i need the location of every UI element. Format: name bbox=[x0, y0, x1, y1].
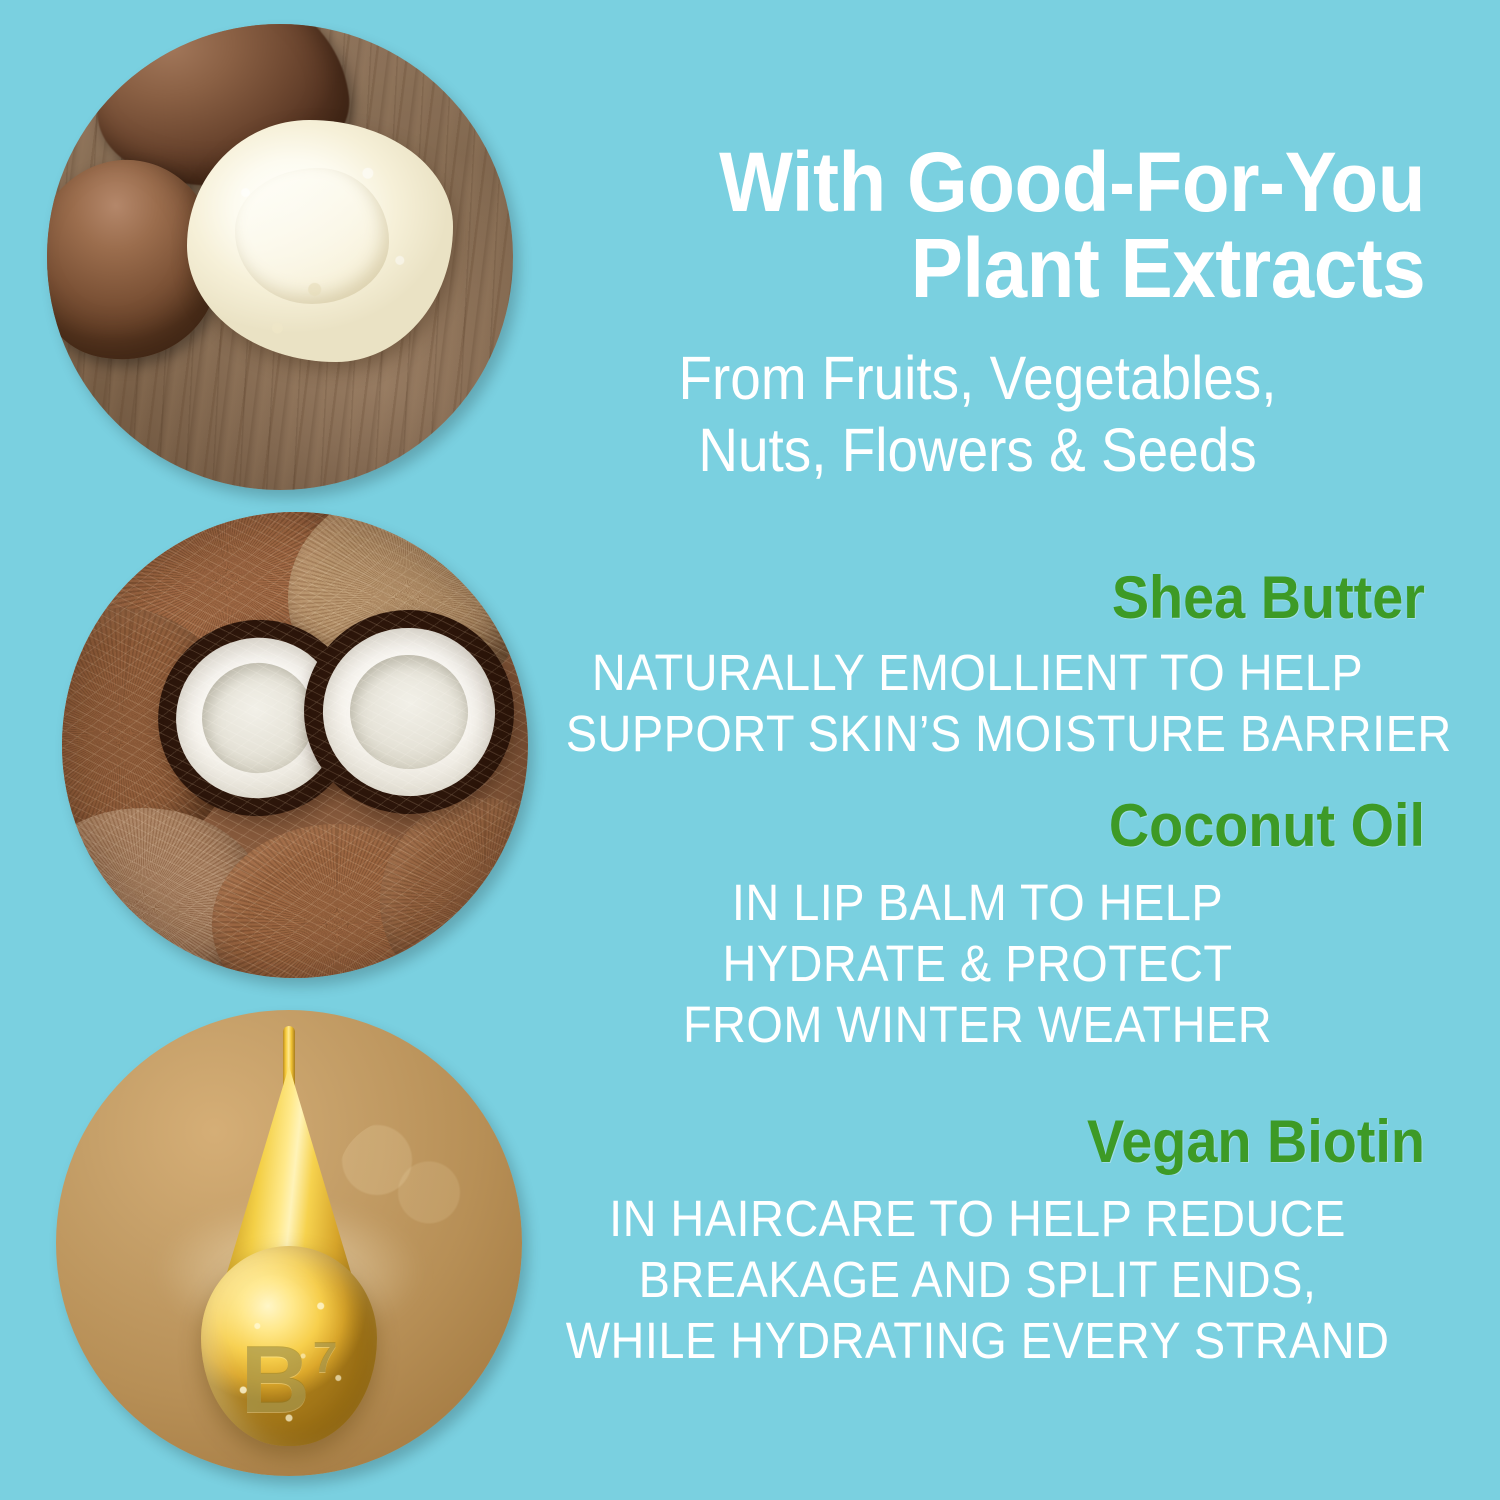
section-body-line: IN HAIRCARE TO HELP REDUCE bbox=[566, 1188, 1389, 1249]
subheadline-line-1: From Fruits, Vegetables, bbox=[575, 348, 1381, 409]
section-body-line: WHILE HYDRATING EVERY STRAND bbox=[566, 1310, 1389, 1371]
section-body-line: SUPPORT SKIN’S MOISTURE BARRIER bbox=[566, 703, 1389, 764]
section-title-vegan-biotin: Vegan Biotin bbox=[593, 1112, 1425, 1172]
coconut-image bbox=[62, 512, 528, 978]
oil-droplet-icon: B 7 bbox=[201, 1026, 377, 1446]
section-shea-butter: Shea Butter NATURALLY EMOLLIENT TO HELP … bbox=[530, 568, 1425, 764]
section-title-coconut-oil: Coconut Oil bbox=[593, 796, 1425, 856]
section-body-line: BREAKAGE AND SPLIT ENDS, bbox=[566, 1249, 1389, 1310]
section-title-shea-butter: Shea Butter bbox=[593, 568, 1425, 628]
headline-line-1: With Good-For-You bbox=[719, 142, 1425, 223]
shea-butter-scoop bbox=[187, 120, 453, 362]
headline-line-2: Plant Extracts bbox=[910, 228, 1425, 309]
image-vignette bbox=[62, 512, 528, 978]
section-body-line: FROM WINTER WEATHER bbox=[566, 994, 1389, 1055]
section-body-line: HYDRATE & PROTECT bbox=[566, 933, 1389, 994]
section-vegan-biotin: Vegan Biotin IN HAIRCARE TO HELP REDUCE … bbox=[530, 1112, 1425, 1372]
b7-superscript: 7 bbox=[313, 1336, 337, 1380]
infographic-canvas: B 7 With Good-For-You Plant Extracts Fro… bbox=[0, 0, 1500, 1500]
section-body-line: NATURALLY EMOLLIENT TO HELP bbox=[566, 642, 1389, 703]
section-body-line: IN LIP BALM TO HELP bbox=[566, 872, 1389, 933]
shea-butter-image bbox=[47, 24, 513, 490]
subheadline-line-2: Nuts, Flowers & Seeds bbox=[575, 420, 1381, 481]
b7-letter: B bbox=[241, 1332, 310, 1428]
vitamin-b7-label: B 7 bbox=[241, 1332, 338, 1428]
biotin-droplet-image: B 7 bbox=[56, 1010, 522, 1476]
text-column: With Good-For-You Plant Extracts From Fr… bbox=[530, 0, 1425, 1500]
section-coconut-oil: Coconut Oil IN LIP BALM TO HELP HYDRATE … bbox=[530, 796, 1425, 1056]
